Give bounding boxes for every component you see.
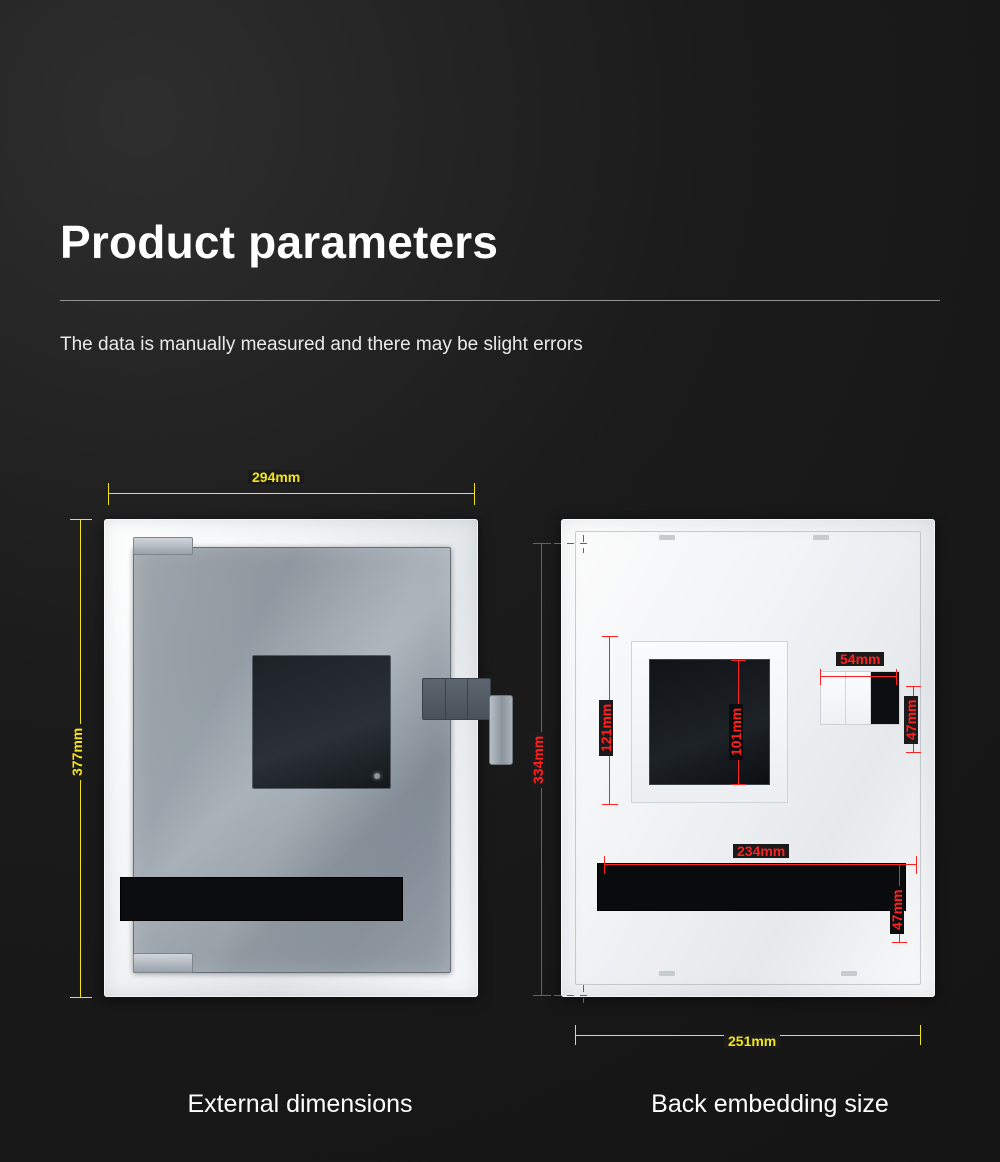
back-dispense-bar bbox=[597, 863, 906, 911]
bar-height-label: 47mm bbox=[890, 886, 904, 934]
keypad-module bbox=[422, 678, 491, 720]
back-window-opening bbox=[649, 659, 770, 785]
front-dispense-slot bbox=[120, 877, 403, 921]
page-title: Product parameters bbox=[60, 215, 498, 269]
mount-clip bbox=[659, 971, 675, 976]
key-segment bbox=[446, 679, 469, 719]
door-latch bbox=[489, 695, 513, 765]
header-divider bbox=[60, 300, 940, 301]
right-figure-caption: Back embedding size bbox=[530, 1090, 1000, 1119]
display-window bbox=[252, 655, 391, 789]
mount-clip bbox=[841, 971, 857, 976]
product-parameters-page: Product parameters The data is manually … bbox=[0, 0, 1000, 1162]
module-segment bbox=[821, 672, 846, 724]
door-hinge-bottom bbox=[133, 953, 193, 973]
page-subtitle: The data is manually measured and there … bbox=[60, 334, 583, 356]
right-overall-height-label: 334mm bbox=[531, 732, 545, 788]
module-width-label: 54mm bbox=[836, 652, 884, 666]
key-segment bbox=[468, 679, 490, 719]
module-height-label: 47mm bbox=[904, 696, 918, 744]
back-small-module bbox=[820, 671, 900, 725]
right-overall-width-label: 251mm bbox=[724, 1034, 780, 1048]
window-inner-height-label: 101mm bbox=[729, 704, 743, 760]
indicator-dot-icon bbox=[374, 773, 380, 779]
key-segment bbox=[423, 679, 446, 719]
mount-clip bbox=[659, 535, 675, 540]
mount-clip bbox=[813, 535, 829, 540]
left-height-label: 377mm bbox=[70, 724, 84, 780]
left-figure-caption: External dimensions bbox=[60, 1090, 540, 1119]
product-back-illustration bbox=[561, 519, 935, 997]
module-segment bbox=[846, 672, 871, 724]
product-front-illustration bbox=[104, 519, 478, 997]
bar-width-label: 234mm bbox=[733, 844, 789, 858]
door-hinge-top bbox=[133, 537, 193, 555]
module-segment-dark bbox=[871, 672, 899, 724]
window-height-label: 121mm bbox=[599, 700, 613, 756]
left-width-label: 294mm bbox=[248, 470, 304, 484]
